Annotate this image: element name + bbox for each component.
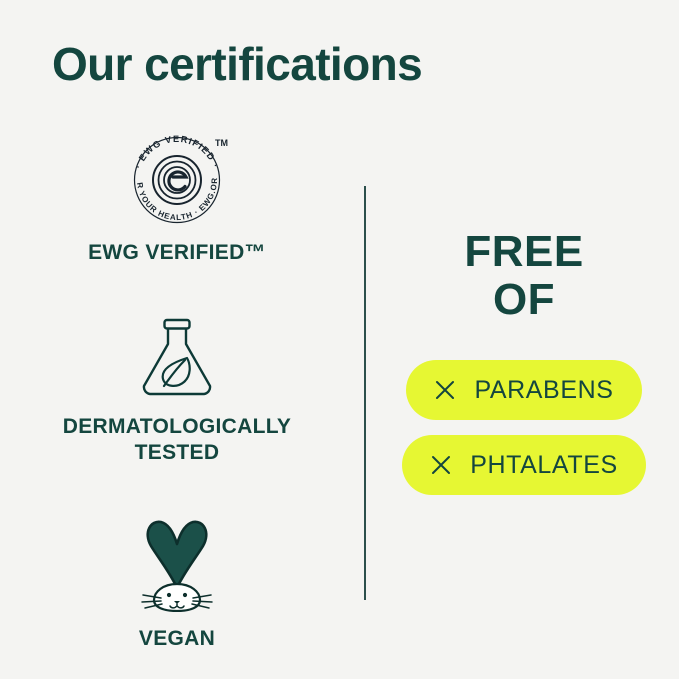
free-of-item-phtalates: PHTALATES	[402, 435, 646, 495]
page-title: Our certifications	[52, 36, 422, 92]
certification-item-ewg: · EWG VERIFIED · · FOR YOUR HEALTH · EWG…	[22, 130, 332, 266]
svg-text:· EWG VERIFIED ·: · EWG VERIFIED ·	[133, 134, 221, 170]
certification-label-ewg: EWG VERIFIED™	[88, 240, 266, 266]
svg-text:TM: TM	[215, 138, 228, 148]
x-icon	[430, 454, 452, 476]
certification-label-vegan: VEGAN	[139, 626, 215, 652]
free-of-item-parabens: PARABENS	[406, 360, 641, 420]
free-of-label-phtalates: PHTALATES	[470, 451, 618, 480]
free-of-heading: FREE OF	[464, 228, 583, 324]
flask-with-leaf-icon	[135, 314, 219, 400]
x-icon	[434, 379, 456, 401]
free-of-label-parabens: PARABENS	[474, 376, 613, 405]
free-of-list: PARABENS PHTALATES	[402, 360, 646, 495]
certifications-panel: Our certifications · EWG VERIFIED ·	[0, 0, 679, 679]
bunny-heart-ears-icon	[127, 512, 227, 612]
free-of-section: FREE OF PARABENS PHTALATES	[380, 228, 668, 495]
certification-label-dermatologically-tested: DERMATOLOGICALLY TESTED	[63, 414, 291, 466]
certification-item-dermatologically-tested: DERMATOLOGICALLY TESTED	[22, 314, 332, 466]
ewg-verified-seal-icon: · EWG VERIFIED · · FOR YOUR HEALTH · EWG…	[123, 130, 231, 226]
certification-item-vegan: VEGAN	[22, 512, 332, 652]
vertical-divider	[364, 186, 366, 600]
certifications-list: · EWG VERIFIED · · FOR YOUR HEALTH · EWG…	[22, 130, 332, 652]
